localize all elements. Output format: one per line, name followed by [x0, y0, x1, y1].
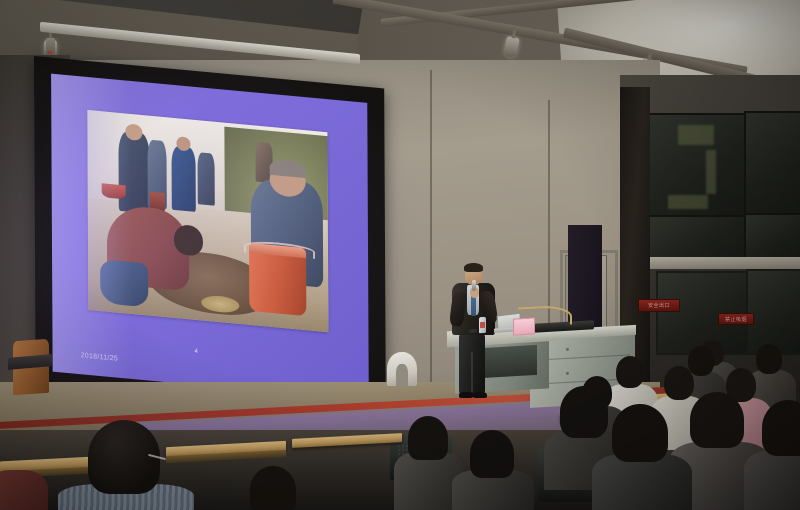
audience-head-foreground [762, 400, 800, 456]
photo-orange-bucket [249, 243, 307, 316]
window-light [706, 150, 716, 194]
audience-body-foreground [744, 450, 800, 510]
audience-body-foreground [592, 454, 692, 510]
audience-body [0, 470, 48, 510]
presenter-shoe [473, 392, 487, 398]
stage-chair[interactable] [387, 352, 417, 386]
cabinet-knob[interactable] [566, 348, 569, 351]
photo-person [198, 152, 215, 206]
lecture-hall-photo: 安全出口 禁止吸烟 [0, 0, 800, 510]
slide-date-stamp: 2018/11/25 [81, 352, 119, 362]
slide-surface: 4 2018/11/25 [51, 74, 369, 401]
window-pane [744, 213, 800, 261]
audience-head [616, 356, 644, 388]
audience-head-foreground [690, 392, 744, 448]
window-light [678, 125, 714, 145]
no-smoking-sign: 禁止吸烟 [718, 313, 754, 325]
audience-head [470, 430, 514, 478]
audience-head [408, 416, 448, 460]
presenter-leg-gap [471, 352, 473, 392]
screen-indicator-light [48, 51, 52, 54]
audience-head [688, 346, 714, 376]
exit-sign-label: 安全出口 [648, 302, 670, 309]
wall-seam [430, 70, 432, 390]
water-bottle [479, 317, 486, 333]
window-pane-lower [746, 269, 800, 355]
slide-photo [87, 110, 328, 332]
no-smoking-sign-label: 禁止吸烟 [725, 316, 747, 323]
window-sill [648, 257, 800, 269]
audience-head-foreground [612, 404, 668, 462]
slide-number: 4 [195, 349, 198, 355]
photo-person [119, 131, 151, 214]
name-placard [513, 317, 535, 335]
audience-head [250, 466, 296, 510]
audience-head-foreground [88, 420, 160, 494]
cabinet-knob[interactable] [566, 372, 569, 375]
exit-sign: 安全出口 [638, 299, 680, 312]
presenter-shoe [459, 392, 473, 398]
window-light [668, 195, 708, 209]
audience-head [756, 344, 782, 374]
photo-person [171, 146, 195, 212]
window-pane [642, 215, 746, 261]
window-pane [744, 111, 800, 215]
presenter-hair [464, 263, 483, 272]
microphone-icon [472, 280, 476, 291]
audience-head [560, 386, 608, 438]
photo-kneeling-man-leg [100, 259, 148, 307]
projection-screen: 4 2018/11/25 [34, 56, 386, 433]
audience-head [664, 366, 694, 400]
